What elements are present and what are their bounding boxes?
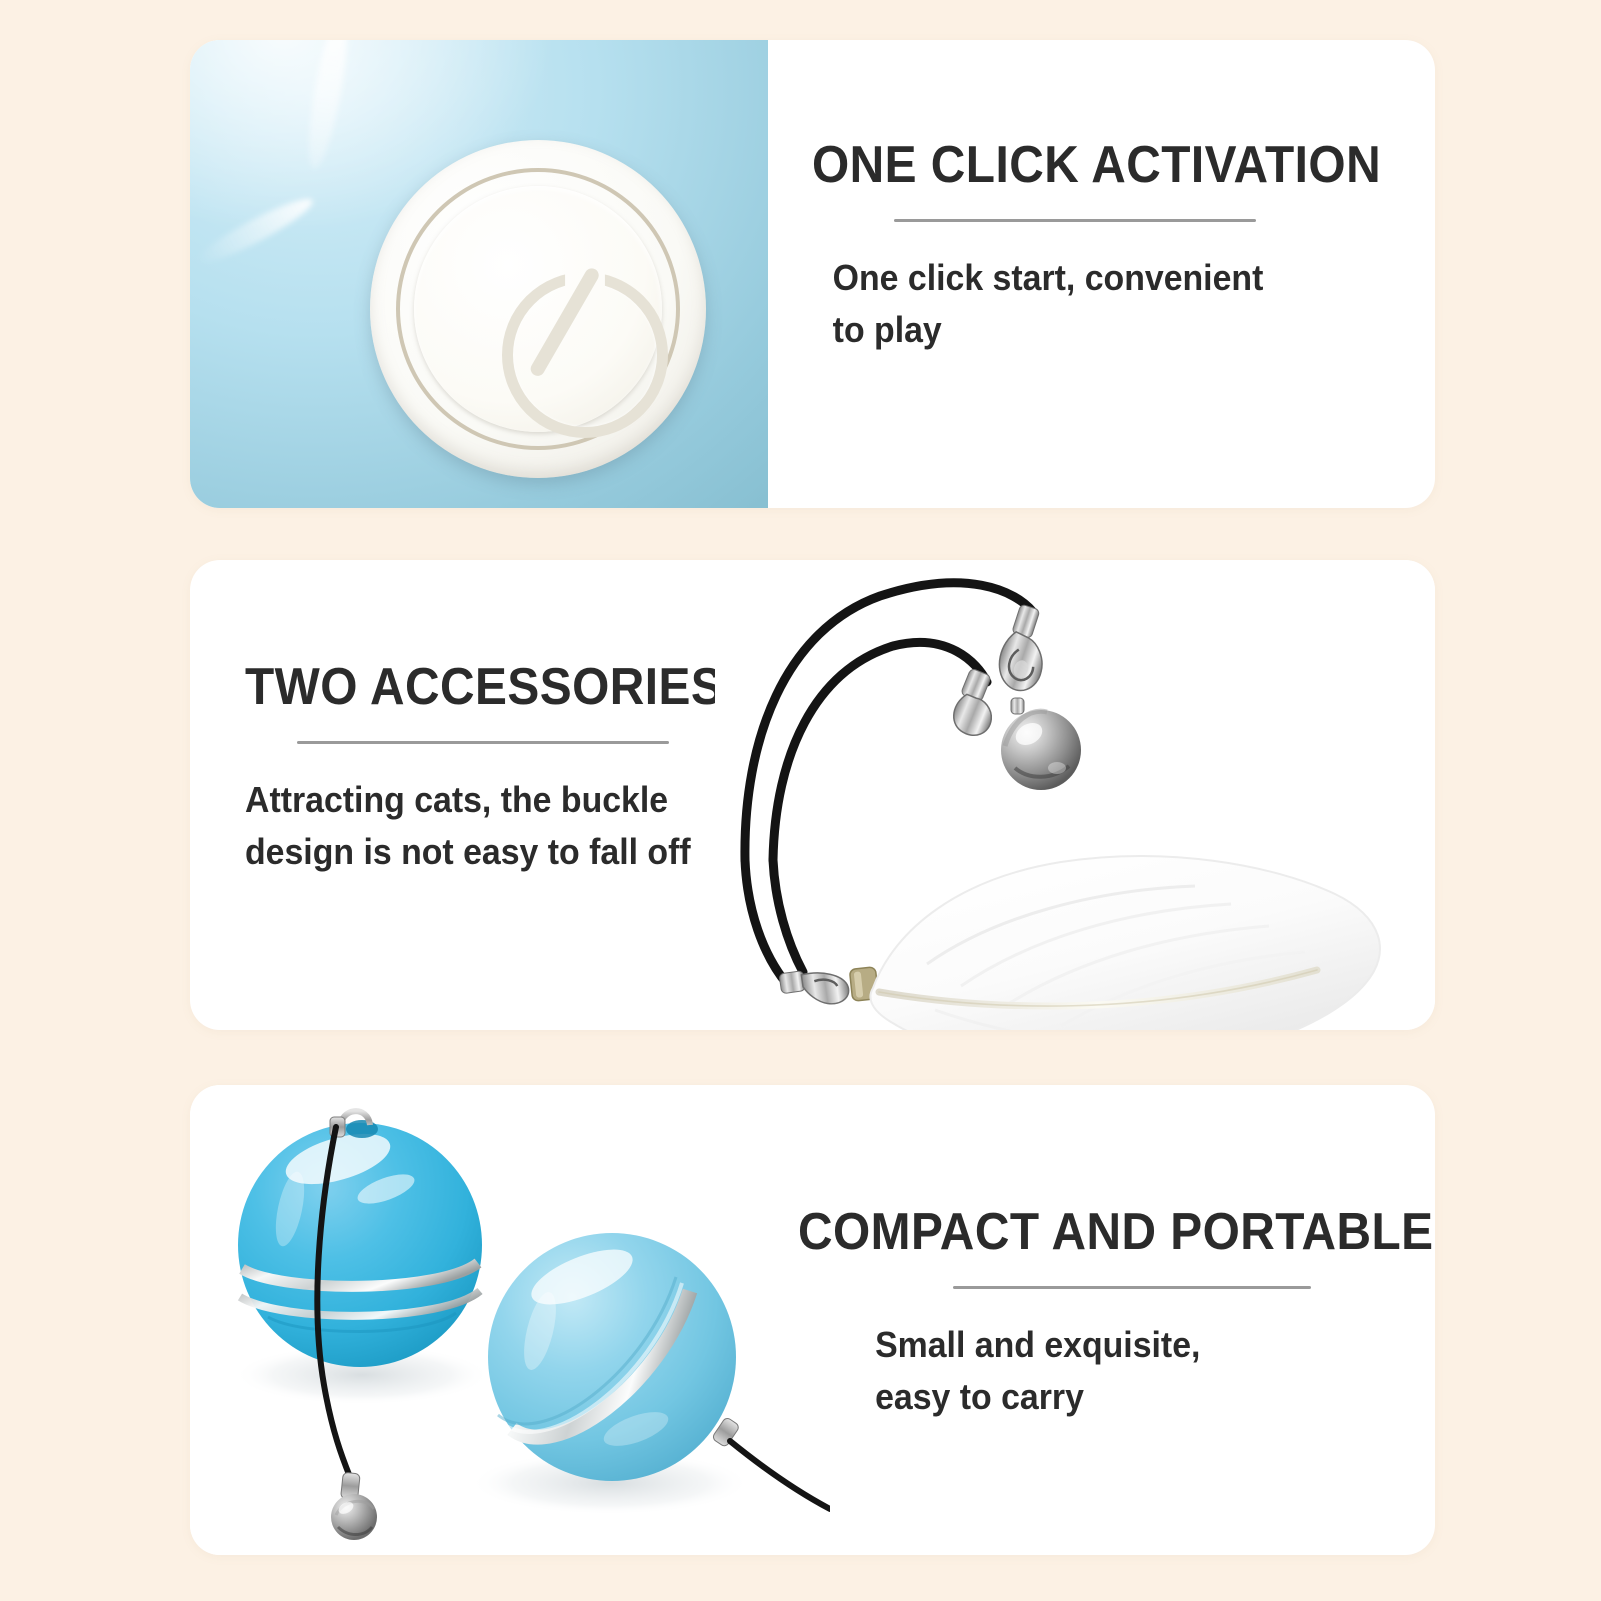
ball-a xyxy=(238,1111,482,1367)
feature-heading: ONE CLICK ACTIVATION xyxy=(812,138,1327,193)
feature-body-line-1: Small and exquisite, xyxy=(875,1319,1362,1371)
feature-card-compact-and-portable: COMPACT AND PORTABLE Small and exquisite… xyxy=(190,1085,1435,1555)
power-button-macro-image xyxy=(190,40,768,508)
blue-ball-body xyxy=(190,40,768,508)
feature-text-one-click-activation: ONE CLICK ACTIVATION One click start, co… xyxy=(812,138,1372,356)
feature-body-line-1: One click start, convenient xyxy=(833,252,1339,304)
feature-card-one-click-activation: ONE CLICK ACTIVATION One click start, co… xyxy=(190,40,1435,508)
two-balls-image xyxy=(190,1085,830,1555)
heading-divider xyxy=(953,1286,1311,1289)
heading-divider xyxy=(894,219,1256,222)
accessories-image xyxy=(715,560,1435,1030)
ball-highlight-1 xyxy=(301,40,354,171)
feature-body-line-1: Attracting cats, the buckle xyxy=(245,774,771,826)
feature-heading: TWO ACCESSORIES xyxy=(245,660,760,715)
infographic-page: ONE CLICK ACTIVATION One click start, co… xyxy=(0,0,1601,1601)
feature-body: One click start, convenient to play xyxy=(812,252,1338,356)
feature-body: Attracting cats, the buckle design is no… xyxy=(245,774,771,878)
feature-body: Small and exquisite, easy to carry xyxy=(798,1319,1362,1423)
feature-body-line-2: design is not easy to fall off xyxy=(245,826,771,878)
feature-card-two-accessories: TWO ACCESSORIES Attracting cats, the buc… xyxy=(190,560,1435,1030)
feature-heading: COMPACT AND PORTABLE xyxy=(798,1205,1350,1260)
ball-highlight-2 xyxy=(192,191,317,271)
power-button-inner-disc xyxy=(414,186,662,432)
feature-body-line-2: to play xyxy=(833,304,1339,356)
heading-divider xyxy=(297,741,669,744)
power-symbol-icon xyxy=(502,272,668,438)
feature-body-line-2: easy to carry xyxy=(875,1371,1362,1423)
ball-b xyxy=(488,1233,736,1481)
power-button xyxy=(370,140,706,478)
feature-text-compact-and-portable: COMPACT AND PORTABLE Small and exquisite… xyxy=(798,1205,1398,1423)
